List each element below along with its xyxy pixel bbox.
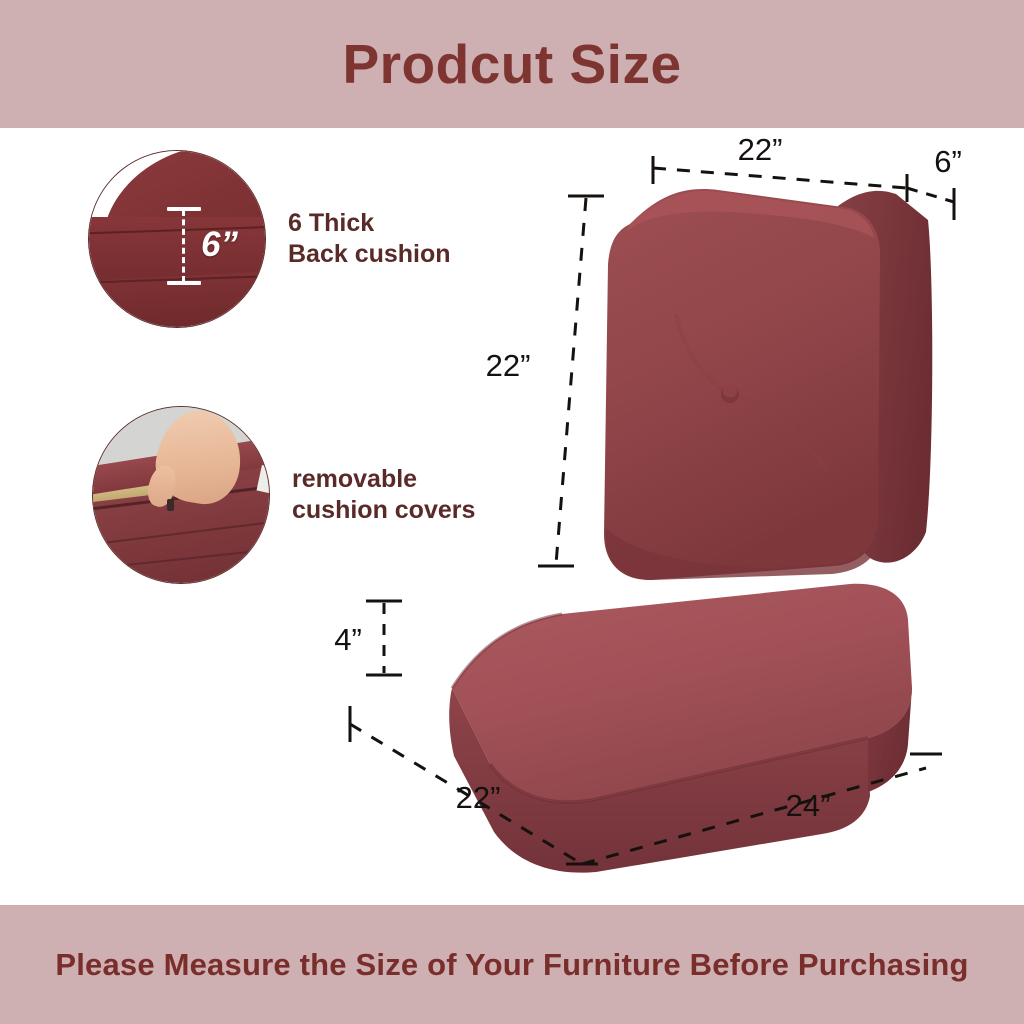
- zipper-pull-icon: [167, 499, 174, 511]
- dim-label-seat-depth: 22”: [456, 780, 501, 815]
- dim-label-seat-thickness: 4”: [334, 622, 362, 657]
- back-cushion-front-face: [604, 189, 880, 580]
- tufting-button-highlight: [723, 385, 737, 398]
- dim-label-back-width: 22”: [738, 132, 783, 167]
- dim-label-back-height: 22”: [486, 348, 531, 383]
- page-title: Prodcut Size: [342, 37, 681, 92]
- header-banner: Prodcut Size: [0, 0, 1024, 128]
- footer-banner: Please Measure the Size of Your Furnitur…: [0, 905, 1024, 1024]
- measure-reminder-text: Please Measure the Size of Your Furnitur…: [15, 945, 1008, 985]
- dim-label-back-depth: 6”: [934, 144, 962, 179]
- dim-line-back-width: [653, 168, 907, 188]
- back-cushion-thickness-photo: 6”: [88, 150, 266, 328]
- thickness-measure-bar: [167, 207, 201, 285]
- measure-cap-bottom: [167, 281, 201, 285]
- dim-line-back-height: [556, 198, 586, 564]
- product-illustration: 22” 6” 22” 4” 22” 24”: [330, 128, 990, 888]
- product-diagram-stage: 6” 6 Thick Back cushion removable cushio…: [0, 128, 1024, 905]
- thickness-measure-value: 6”: [201, 227, 238, 262]
- dim-label-seat-width: 24”: [786, 788, 831, 823]
- measure-dashed-line: [182, 210, 188, 282]
- hand-unzipping-cover-photo: [92, 406, 270, 584]
- dim-line-back-depth: [907, 188, 954, 202]
